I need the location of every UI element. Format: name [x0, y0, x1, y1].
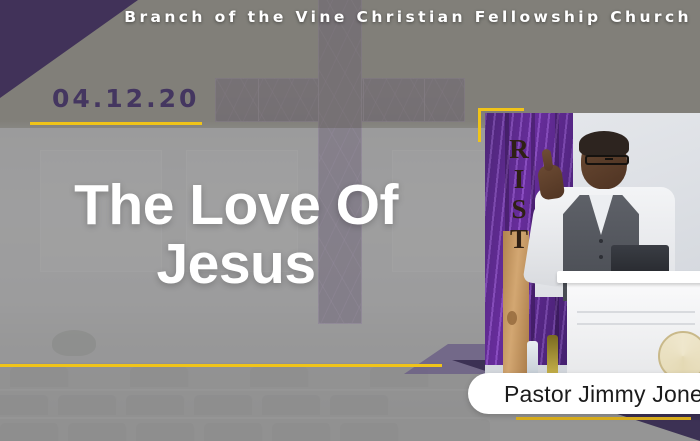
pulpit-trim — [577, 311, 695, 325]
speaker-photo: RIST — [485, 113, 700, 375]
glasses-bridge — [605, 158, 613, 160]
yellow-rule-under-date — [30, 122, 202, 125]
yellow-rule-bottom — [516, 417, 691, 420]
sermon-title-card: Branch of the Vine Christian Fellowship … — [0, 0, 700, 441]
sermon-date: 04.12.20 — [52, 84, 199, 113]
pastor-glasses — [585, 155, 629, 165]
pastor-hair — [579, 131, 629, 157]
oil-bottle — [547, 335, 558, 375]
church-name: Branch of the Vine Christian Fellowship … — [0, 8, 692, 26]
vest-button — [599, 255, 603, 259]
sermon-title-line-2: Jesus — [26, 235, 446, 294]
sermon-title-line-1: The Love Of — [26, 176, 446, 235]
church-seal — [658, 331, 700, 375]
wood-knot — [507, 311, 517, 325]
water-bottle — [527, 341, 538, 375]
banner-letters: RIST — [501, 119, 531, 269]
yellow-rule-middle — [0, 364, 442, 367]
speaker-name: Pastor Jimmy Jones — [504, 381, 700, 408]
sermon-title: The Love Of Jesus — [26, 176, 446, 295]
vest-button — [599, 239, 603, 243]
pulpit-top — [557, 271, 700, 283]
